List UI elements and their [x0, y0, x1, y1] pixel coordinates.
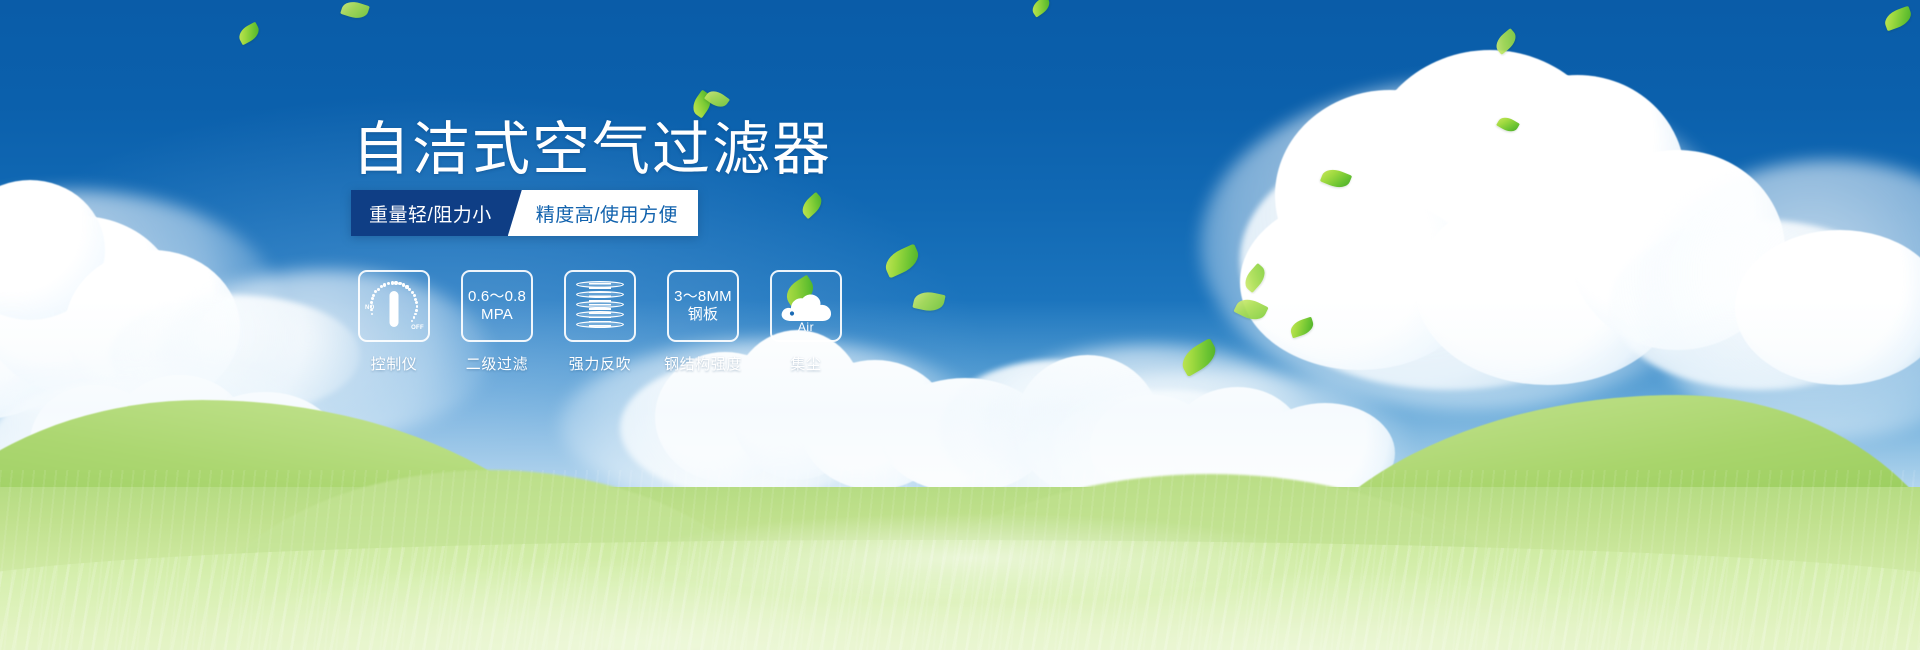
- feature-caption: 控制仪: [371, 353, 418, 374]
- gauge-tick: [371, 297, 374, 300]
- gauge-icon: NO OFF: [366, 278, 422, 334]
- feature-item-controller[interactable]: NO OFF 控制仪: [358, 270, 430, 374]
- feature-box-line1: 3～8MM: [674, 288, 732, 306]
- gauge-tick: [371, 313, 373, 315]
- coil-ring: [576, 281, 624, 288]
- gauge-tick: [414, 298, 417, 301]
- feature-box[interactable]: [564, 270, 636, 342]
- gauge-needle: [390, 291, 399, 327]
- coil-ring: [576, 301, 624, 308]
- gauge-tick: [415, 309, 418, 312]
- feature-box-line2: 钢板: [688, 306, 718, 324]
- tab-precision-convenience[interactable]: 精度高/使用方便: [508, 190, 698, 236]
- gauge-tick: [411, 320, 413, 322]
- feature-caption: 二级过滤: [466, 353, 528, 374]
- cloud-air-icon: Air: [777, 284, 835, 330]
- feature-box[interactable]: NO OFF: [358, 270, 430, 342]
- feature-tab-group: 重量轻/阻力小 精度高/使用方便: [351, 190, 698, 236]
- feature-box-line1: 0.6～0.8: [468, 288, 526, 306]
- gauge-tick: [387, 282, 390, 285]
- gauge-tick: [370, 301, 373, 304]
- gauge-tick: [370, 309, 372, 311]
- tab-weight-resistance[interactable]: 重量轻/阻力小: [351, 190, 522, 236]
- feature-box[interactable]: 3～8MM 钢板: [667, 270, 739, 342]
- coil-ring: [576, 321, 624, 328]
- feature-box[interactable]: Air: [770, 270, 842, 342]
- feature-item-dust-collection[interactable]: Air 集尘: [770, 270, 842, 374]
- gauge-tick: [370, 305, 372, 307]
- gauge-tick: [416, 305, 419, 308]
- gauge-tick: [414, 313, 416, 315]
- feature-icon-row: NO OFF 控制仪 0.6～0.8 MPA 二级过滤: [358, 270, 842, 374]
- feature-caption: 钢结构强度: [664, 353, 742, 374]
- coil-ring: [576, 311, 624, 318]
- feature-item-filtration[interactable]: 0.6～0.8 MPA 二级过滤: [461, 270, 533, 374]
- gauge-label-off: OFF: [411, 325, 424, 331]
- feature-box-line2: MPA: [481, 306, 513, 324]
- feature-caption: 强力反吹: [569, 353, 631, 374]
- banner-content: 自洁式空气过滤器 重量轻/阻力小 精度高/使用方便 NO OFF 控制仪: [0, 0, 1920, 650]
- air-label: Air: [777, 320, 835, 334]
- feature-box[interactable]: 0.6～0.8 MPA: [461, 270, 533, 342]
- gauge-tick: [413, 294, 416, 297]
- gauge-tick: [383, 283, 386, 286]
- gauge-tick: [374, 290, 377, 293]
- coil-icon: [576, 280, 624, 332]
- gauge-tick: [413, 316, 415, 318]
- coil-ring: [576, 291, 624, 298]
- feature-item-steel-strength[interactable]: 3～8MM 钢板 钢结构强度: [667, 270, 739, 374]
- hero-banner: 自洁式空气过滤器 重量轻/阻力小 精度高/使用方便 NO OFF 控制仪: [0, 0, 1920, 650]
- page-title: 自洁式空气过滤器: [352, 120, 832, 180]
- gauge-tick: [372, 294, 375, 297]
- gauge-tick: [377, 288, 380, 291]
- feature-caption: 集尘: [790, 353, 821, 374]
- feature-item-blowback[interactable]: 强力反吹: [564, 270, 636, 374]
- gauge-tick: [415, 301, 418, 304]
